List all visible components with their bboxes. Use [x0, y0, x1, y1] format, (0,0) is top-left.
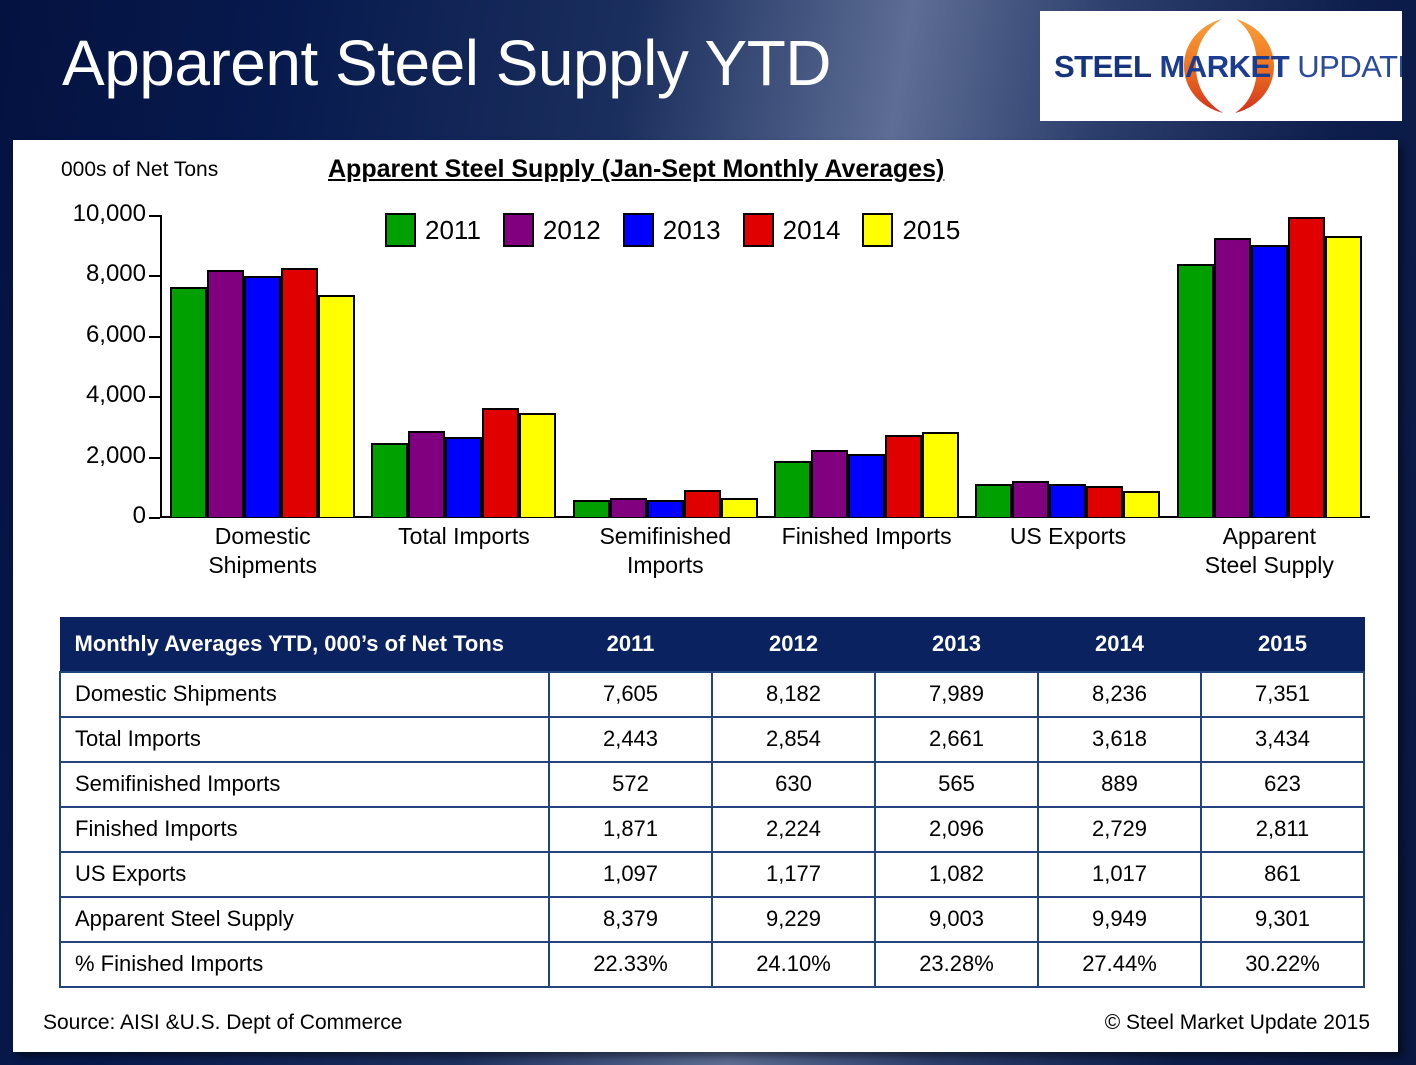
x-axis-label-line1: Domestic: [162, 522, 363, 551]
table-cell: 861: [1201, 852, 1364, 897]
table-cell: 630: [712, 762, 875, 807]
table-cell: 565: [875, 762, 1038, 807]
y-tick-label: 0: [133, 502, 146, 530]
table-row: Finished Imports1,8712,2242,0962,7292,81…: [60, 807, 1364, 852]
chart-plot-area: [162, 215, 1370, 517]
bar-2014: [1086, 486, 1123, 517]
x-axis-label: ApparentSteel Supply: [1169, 522, 1370, 581]
table-row-label: Domestic Shipments: [60, 672, 549, 717]
table-cell: 1,082: [875, 852, 1038, 897]
table-cell: 3,618: [1038, 717, 1201, 762]
y-tick-mark: [149, 457, 160, 459]
table-cell: 24.10%: [712, 942, 875, 987]
logo-word-update: UPDATE: [1297, 49, 1402, 84]
table-row-label: % Finished Imports: [60, 942, 549, 987]
y-tick-label: 4,000: [86, 381, 146, 409]
table-cell: 1,177: [712, 852, 875, 897]
table-row-label: Finished Imports: [60, 807, 549, 852]
bar-2015: [1123, 491, 1160, 517]
data-table-wrapper: Monthly Averages YTD, 000’s of Net Tons2…: [59, 617, 1365, 988]
bar-2012: [1214, 238, 1251, 517]
bar-2014: [281, 268, 318, 517]
y-axis-tick-labels: 10,0008,0006,0004,0002,0000: [43, 214, 146, 516]
bar-2013: [445, 437, 482, 517]
bar-2013: [848, 454, 885, 517]
logo-word-market: MARKET: [1160, 49, 1290, 84]
x-axis-label-line1: Semifinished: [565, 522, 766, 551]
table-cell: 30.22%: [1201, 942, 1364, 987]
y-tick-mark: [149, 336, 160, 338]
x-axis-label-line2: Steel Supply: [1169, 551, 1370, 580]
bar-2015: [922, 432, 959, 517]
table-cell: 2,443: [549, 717, 712, 762]
table-body: Domestic Shipments7,6058,1827,9898,2367,…: [60, 672, 1364, 987]
bar-2015: [519, 413, 556, 517]
table-cell: 7,989: [875, 672, 1038, 717]
bar-2014: [482, 408, 519, 517]
table-cell: 2,224: [712, 807, 875, 852]
table-cell: 2,854: [712, 717, 875, 762]
x-axis-label: DomesticShipments: [162, 522, 363, 581]
bar-group: [766, 215, 967, 517]
table-header-year-2013: 2013: [875, 618, 1038, 672]
bar-2011: [170, 287, 207, 517]
y-tick-label: 10,000: [73, 200, 146, 228]
bar-2012: [207, 270, 244, 517]
bar-2012: [610, 498, 647, 517]
bar-2014: [684, 490, 721, 517]
y-tick-mark: [149, 275, 160, 277]
table-header-year-2011: 2011: [549, 618, 712, 672]
x-axis-label-line1: Finished Imports: [766, 522, 967, 551]
table-cell: 9,949: [1038, 897, 1201, 942]
table-header-year-2015: 2015: [1201, 618, 1364, 672]
table-row-label: Semifinished Imports: [60, 762, 549, 807]
logo-wordmark: STEEL MARKET UPDATE: [1054, 51, 1402, 82]
bar-2011: [1177, 264, 1214, 517]
table-row-label: Total Imports: [60, 717, 549, 762]
y-tick-label: 2,000: [86, 442, 146, 470]
logo-word-steel: STEEL: [1054, 49, 1151, 84]
bar-group: [565, 215, 766, 517]
table-cell: 9,301: [1201, 897, 1364, 942]
table-cell: 572: [549, 762, 712, 807]
table-cell: 2,661: [875, 717, 1038, 762]
x-axis-label: SemifinishedImports: [565, 522, 766, 581]
table-row: Semifinished Imports572630565889623: [60, 762, 1364, 807]
table-row-label: Apparent Steel Supply: [60, 897, 549, 942]
table-cell: 889: [1038, 762, 1201, 807]
bar-2011: [975, 484, 1012, 517]
table-cell: 27.44%: [1038, 942, 1201, 987]
x-axis-label-line1: Apparent: [1169, 522, 1370, 551]
x-axis-label: US Exports: [967, 522, 1168, 581]
source-note: Source: AISI &U.S. Dept of Commerce: [43, 1011, 402, 1035]
x-axis-label: Finished Imports: [766, 522, 967, 581]
table-cell: 8,236: [1038, 672, 1201, 717]
table-cell: 8,182: [712, 672, 875, 717]
steel-market-update-logo: STEEL MARKET UPDATE: [1040, 11, 1402, 121]
bar-2012: [408, 431, 445, 517]
table-row: Apparent Steel Supply8,3799,2299,0039,94…: [60, 897, 1364, 942]
bar-group: [1169, 215, 1370, 517]
x-axis-category-labels: DomesticShipmentsTotal ImportsSemifinish…: [162, 522, 1370, 581]
table-row-label: US Exports: [60, 852, 549, 897]
bar-2012: [811, 450, 848, 517]
y-tick-label: 6,000: [86, 321, 146, 349]
y-tick-mark: [149, 396, 160, 398]
page-title: Apparent Steel Supply YTD: [62, 26, 831, 100]
table-row: % Finished Imports22.33%24.10%23.28%27.4…: [60, 942, 1364, 987]
bar-2011: [371, 443, 408, 517]
bar-2015: [318, 295, 355, 517]
table-cell: 22.33%: [549, 942, 712, 987]
slide-header: Apparent Steel Supply YTD STEEL MARKET U…: [0, 0, 1416, 134]
bar-2015: [721, 498, 758, 517]
y-tick-mark: [149, 517, 160, 519]
table-cell: 8,379: [549, 897, 712, 942]
table-cell: 7,605: [549, 672, 712, 717]
bar-2011: [774, 461, 811, 518]
x-axis-label-line2: Shipments: [162, 551, 363, 580]
x-axis-label-line1: Total Imports: [363, 522, 564, 551]
table-header-year-2012: 2012: [712, 618, 875, 672]
table-cell: 2,096: [875, 807, 1038, 852]
content-panel: 000s of Net Tons Apparent Steel Supply (…: [13, 140, 1398, 1052]
table-row: US Exports1,0971,1771,0821,017861: [60, 852, 1364, 897]
table-cell: 23.28%: [875, 942, 1038, 987]
y-tick-mark: [149, 215, 160, 217]
table-header-row: Monthly Averages YTD, 000’s of Net Tons2…: [60, 618, 1364, 672]
bar-group: [967, 215, 1168, 517]
bar-2013: [244, 276, 281, 517]
bar-group: [162, 215, 363, 517]
bar-2012: [1012, 481, 1049, 517]
table-cell: 623: [1201, 762, 1364, 807]
data-table: Monthly Averages YTD, 000’s of Net Tons2…: [59, 617, 1365, 988]
copyright-note: © Steel Market Update 2015: [1105, 1011, 1370, 1035]
table-cell: 2,811: [1201, 807, 1364, 852]
table-cell: 1,871: [549, 807, 712, 852]
table-row: Domestic Shipments7,6058,1827,9898,2367,…: [60, 672, 1364, 717]
table-cell: 7,351: [1201, 672, 1364, 717]
y-tick-label: 8,000: [86, 260, 146, 288]
table-row: Total Imports2,4432,8542,6613,6183,434: [60, 717, 1364, 762]
x-axis-label: Total Imports: [363, 522, 564, 581]
x-axis-label-line2: Imports: [565, 551, 766, 580]
x-axis-label-line1: US Exports: [967, 522, 1168, 551]
bar-2011: [573, 500, 610, 517]
bar-2014: [885, 435, 922, 517]
bar-2014: [1288, 217, 1325, 517]
table-header-year-2014: 2014: [1038, 618, 1201, 672]
table-cell: 9,003: [875, 897, 1038, 942]
table-cell: 3,434: [1201, 717, 1364, 762]
bar-2013: [1049, 484, 1086, 517]
table-cell: 2,729: [1038, 807, 1201, 852]
table-cell: 1,017: [1038, 852, 1201, 897]
bar-2015: [1325, 236, 1362, 517]
table-header-label: Monthly Averages YTD, 000’s of Net Tons: [60, 618, 549, 672]
bar-2013: [647, 500, 684, 517]
table-cell: 1,097: [549, 852, 712, 897]
table-cell: 9,229: [712, 897, 875, 942]
chart-plot-wrapper: 10,0008,0006,0004,0002,0000 DomesticShip…: [13, 140, 1398, 610]
bar-group: [363, 215, 564, 517]
bar-2013: [1251, 245, 1288, 517]
